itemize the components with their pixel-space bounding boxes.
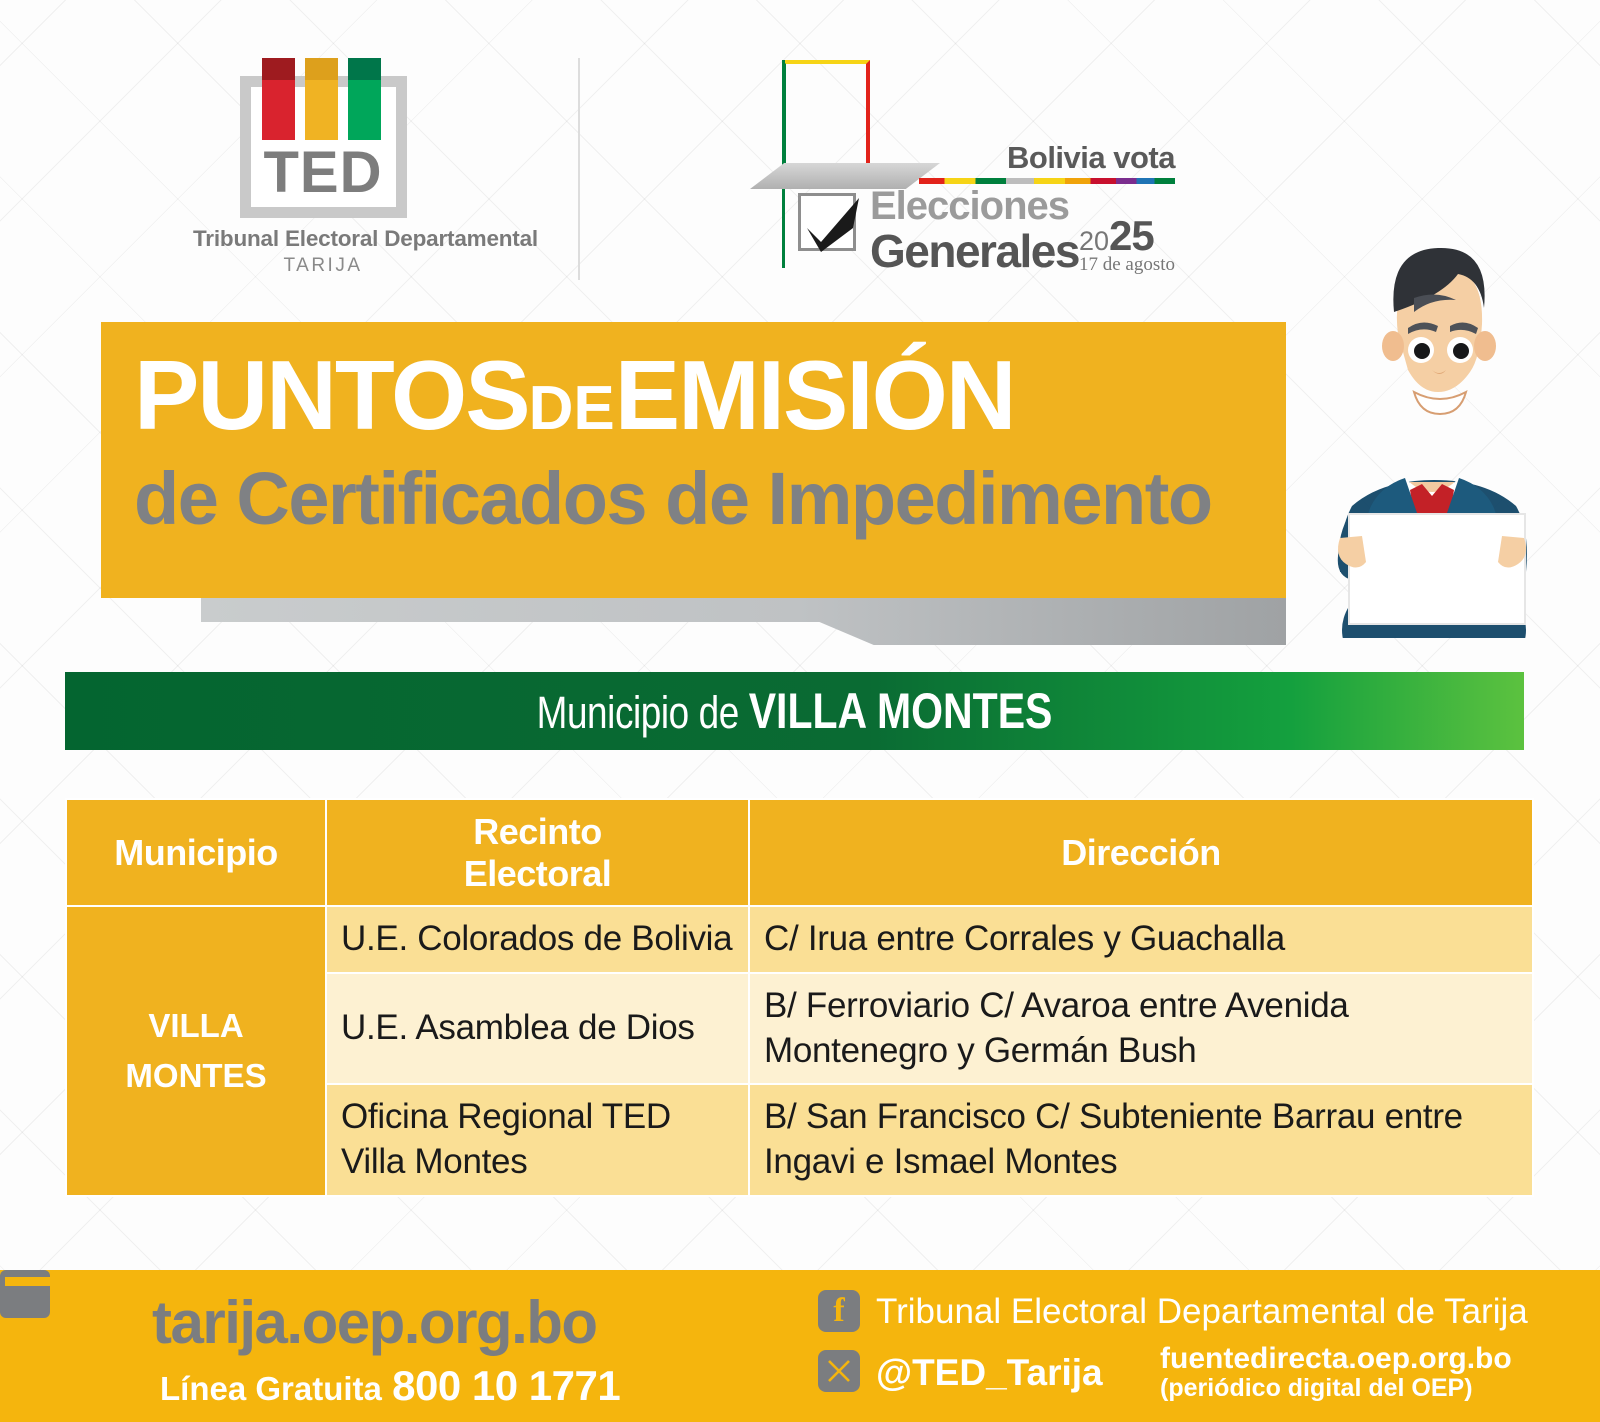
headline-de: DE [529, 374, 615, 443]
municipality-name: VILLA MONTES [749, 683, 1053, 739]
year-prefix: 20 [1079, 226, 1109, 256]
newspaper-icon-block [34, 1401, 45, 1414]
bolivia-vota-tagline: Bolivia vota [1007, 140, 1175, 176]
municipality-band: Municipio de VILLA MONTES [65, 672, 1524, 750]
headline-line2: de Certificados de Impedimento [134, 462, 1212, 536]
column-header-recinto-line1: Recinto [473, 811, 602, 852]
newspaper-icon-block [6, 1401, 17, 1414]
municipality-cell: VILLA MONTES [66, 906, 326, 1196]
recinto-cell: U.E. Asamblea de Dios [326, 973, 749, 1085]
headline-puntos: PUNTOS [134, 340, 529, 450]
footer-news-site[interactable]: fuentedirecta.oep.org.bo [1160, 1342, 1512, 1376]
municipality-cell-line2: MONTES [125, 1057, 266, 1094]
headline-line1: PUNTOSDEEMISIÓN [134, 346, 1015, 444]
footer-twitter-handle[interactable]: @TED_Tarija [876, 1352, 1103, 1394]
x-twitter-icon[interactable] [818, 1350, 860, 1392]
ballot-urn-icon [750, 60, 890, 270]
generales-word: Generales [870, 224, 1079, 278]
direccion-cell: B/ Ferroviario C/ Avaroa entre Avenida M… [749, 973, 1533, 1085]
year-suffix: 25 [1109, 212, 1154, 259]
direccion-cell: C/ Irua entre Corrales y Guachalla [749, 906, 1533, 973]
table-row: VILLA MONTES U.E. Colorados de Bolivia C… [66, 906, 1533, 973]
ted-logo-bar-green-dark [348, 58, 381, 80]
ted-acronym: TED [240, 144, 407, 202]
headline-emision: EMISIÓN [615, 340, 1015, 450]
municipality-band-text: Municipio de VILLA MONTES [537, 682, 1053, 740]
municipality-prefix: Municipio de [537, 687, 749, 738]
businessman-illustration [1302, 238, 1572, 638]
direccion-cell: B/ San Francisco C/ Subteniente Barrau e… [749, 1084, 1533, 1196]
emission-points-table: Municipio Recinto Electoral Dirección VI… [65, 798, 1534, 1197]
column-header-municipio: Municipio [66, 799, 326, 906]
recinto-cell: Oficina Regional TED Villa Montes [326, 1084, 749, 1196]
footer-hotline-label: Línea Gratuita [160, 1370, 382, 1407]
newspaper-icon-strip [5, 1277, 1595, 1286]
urn-box [782, 60, 870, 178]
election-year-block: 2025 17 de agosto [1079, 212, 1175, 276]
column-header-direccion: Dirección [749, 799, 1533, 906]
ted-department: TARIJA [193, 255, 453, 277]
ted-subtitle: Tribunal Electoral Departamental [193, 226, 453, 252]
headline-banner: PUNTOSDEEMISIÓN de Certificados de Imped… [101, 322, 1286, 598]
footer-website[interactable]: tarija.oep.org.bo [152, 1288, 597, 1357]
elecciones-generales-logo: Bolivia vota Elecciones Generales 2025 1… [730, 52, 1175, 282]
footer-facebook-name[interactable]: Tribunal Electoral Departamental de Tari… [876, 1292, 1528, 1332]
newspaper-icon-block [20, 1401, 31, 1414]
municipality-cell-line1: VILLA [148, 1007, 243, 1044]
facebook-icon[interactable]: f [818, 1290, 860, 1332]
checkbox-icon [798, 193, 856, 251]
column-header-recinto-electoral: Recinto Electoral [326, 799, 749, 906]
footer-hotline: Línea Gratuita 800 10 1771 [160, 1362, 620, 1410]
ted-logo-bar-red-dark [262, 58, 295, 80]
elecciones-word: Elecciones [870, 184, 1069, 229]
recinto-cell: U.E. Colorados de Bolivia [326, 906, 749, 973]
ted-logo-bar-yellow-dark [305, 58, 338, 80]
table-header-row: Municipio Recinto Electoral Dirección [66, 799, 1533, 906]
footer-band: tarija.oep.org.bo Línea Gratuita 800 10 … [0, 1270, 1600, 1422]
footer-news-subtitle: (periódico digital del OEP) [1160, 1374, 1473, 1403]
footer-hotline-number: 800 10 1771 [392, 1362, 620, 1409]
logo-divider [578, 58, 580, 280]
ted-logo: TED Tribunal Electoral Departamental TAR… [193, 58, 453, 277]
election-date: 17 de agosto [1079, 254, 1175, 276]
ted-logo-mark: TED [240, 58, 407, 218]
column-header-recinto-line2: Electoral [464, 853, 612, 894]
newspaper-icon[interactable] [0, 1270, 50, 1318]
